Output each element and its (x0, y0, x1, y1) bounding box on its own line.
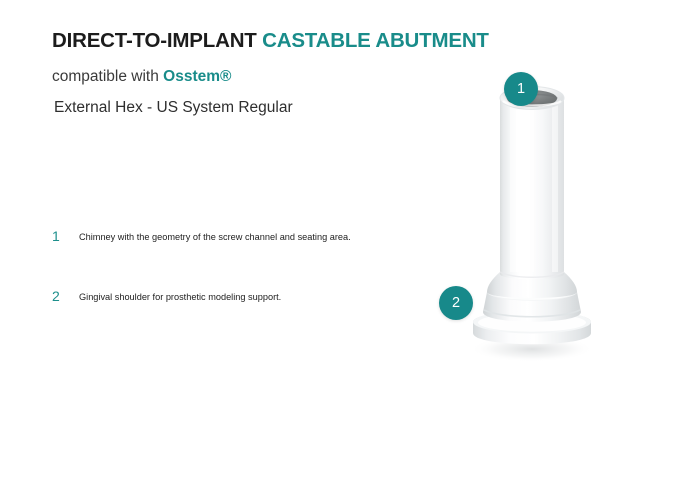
header: DIRECT-TO-IMPLANT CASTABLE ABUTMENT comp… (52, 30, 472, 116)
compatibility-prefix: compatible with (52, 68, 159, 85)
feature-list: 1 Chimney with the geometry of the screw… (52, 228, 452, 348)
compatibility-line: compatible with Osstem® (52, 53, 472, 85)
product-image (440, 60, 620, 370)
feature-description: Gingival shoulder for prosthetic modelin… (79, 288, 281, 304)
product-spec-page: DIRECT-TO-IMPLANT CASTABLE ABUTMENT comp… (0, 0, 700, 500)
shaft-highlight-soft (510, 100, 534, 272)
shaft-reflection-right (552, 100, 558, 272)
feature-number: 1 (52, 228, 79, 243)
abutment-illustration (440, 60, 620, 370)
list-item: 1 Chimney with the geometry of the screw… (52, 228, 452, 288)
callout-badge-2[interactable]: 2 (439, 286, 473, 320)
feature-description: Chimney with the geometry of the screw c… (79, 228, 351, 244)
feature-number: 2 (52, 288, 79, 303)
page-title: DIRECT-TO-IMPLANT CASTABLE ABUTMENT (52, 30, 472, 53)
compatibility-brand: Osstem® (163, 68, 231, 85)
list-item: 2 Gingival shoulder for prosthetic model… (52, 288, 452, 348)
callout-badge-1[interactable]: 1 (504, 72, 538, 106)
page-title-primary: DIRECT-TO-IMPLANT (52, 29, 257, 52)
system-subtitle: External Hex - US System Regular (52, 85, 472, 116)
page-title-secondary: CASTABLE ABUTMENT (262, 29, 489, 52)
